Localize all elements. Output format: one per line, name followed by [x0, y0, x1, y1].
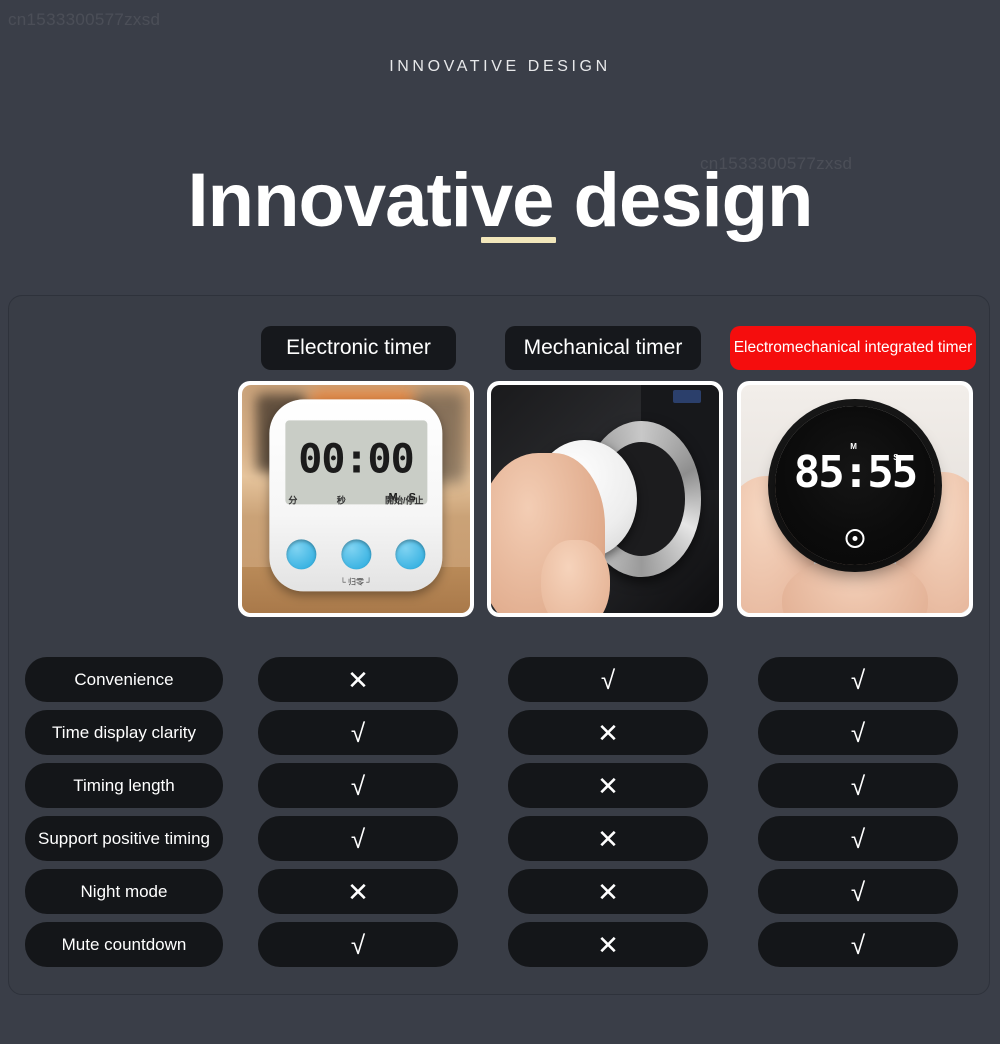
page-title: Innovative design: [0, 163, 1000, 239]
cell-mechanical: ✕: [508, 763, 708, 808]
lcd-digits: 00:00: [298, 440, 413, 480]
mark-icon: √: [351, 720, 365, 746]
feature-label: Support positive timing: [25, 816, 223, 861]
cell-mechanical: ✕: [508, 710, 708, 755]
reset-label: └ 归零 ┘: [269, 576, 442, 587]
product-tabs: Electronic timer Mechanical timer Electr…: [0, 326, 1000, 372]
minute-button: [287, 540, 317, 570]
product-photo-electronic-timer[interactable]: 00:00 M S 分 秒 開始/停止 └: [238, 381, 474, 617]
feature-label: Convenience: [25, 657, 223, 702]
start-stop-button: [395, 540, 425, 570]
led-timer-knob: M S 85:55: [775, 406, 935, 566]
thumb-graphic: [541, 540, 609, 613]
button-labels: 分 秒 開始/停止: [288, 494, 423, 507]
product-photo-electromechanical-timer[interactable]: M S 85:55: [737, 381, 973, 617]
feature-label: Night mode: [25, 869, 223, 914]
cell-electronic: √: [258, 816, 458, 861]
button-label-startstop: 開始/停止: [385, 494, 424, 507]
cell-mechanical: ✕: [508, 816, 708, 861]
mark-icon: ✕: [597, 826, 619, 852]
button-label-minute: 分: [288, 494, 297, 507]
tab-electromechanical-integrated-timer[interactable]: Electromechanical integrated timer: [730, 326, 976, 370]
mark-icon: ✕: [597, 773, 619, 799]
product-photos: 00:00 M S 分 秒 開始/停止 └: [0, 381, 1000, 617]
table-row: Night mode ✕ ✕ √: [0, 869, 1000, 922]
table-row: Mute countdown √ ✕ √: [0, 922, 1000, 975]
cell-electronic: √: [258, 763, 458, 808]
tab-electronic-timer[interactable]: Electronic timer: [261, 326, 456, 370]
timer-buttons: [287, 540, 426, 570]
page-eyebrow: INNOVATIVE DESIGN: [0, 58, 1000, 76]
cell-electromechanical: √: [758, 922, 958, 967]
button-label-second: 秒: [337, 494, 346, 507]
cell-mechanical: √: [508, 657, 708, 702]
cell-mechanical: ✕: [508, 922, 708, 967]
mark-icon: √: [351, 773, 365, 799]
table-row: Timing length √ ✕ √: [0, 763, 1000, 816]
electronic-timer-body: 00:00 M S 分 秒 開始/停止 └: [269, 399, 442, 591]
mark-icon: √: [851, 667, 865, 693]
lcd-screen: 00:00 M S: [285, 420, 427, 504]
mark-icon: √: [601, 667, 615, 693]
cell-electronic: ✕: [258, 869, 458, 914]
cell-electronic: √: [258, 922, 458, 967]
table-row: Support positive timing √ ✕ √: [0, 816, 1000, 869]
mark-icon: ✕: [597, 879, 619, 905]
watermark-top-left: cn1533300577zxsd: [8, 10, 160, 30]
table-row: Convenience ✕ √ √: [0, 657, 1000, 710]
mark-icon: √: [351, 826, 365, 852]
second-button: [341, 540, 371, 570]
mark-icon: ✕: [347, 667, 369, 693]
mark-icon: √: [851, 773, 865, 799]
led-digits: 85:55: [775, 451, 935, 495]
mark-icon: ✕: [597, 720, 619, 746]
power-button-icon: [845, 529, 864, 548]
cell-electronic: ✕: [258, 657, 458, 702]
promo-page: cn1533300577zxsd cn1533300577zxsd cn1533…: [0, 0, 1000, 1044]
comparison-grid: Convenience ✕ √ √ Time display clarity √…: [0, 657, 1000, 975]
cell-electromechanical: √: [758, 763, 958, 808]
cell-mechanical: ✕: [508, 869, 708, 914]
mark-icon: √: [851, 879, 865, 905]
product-photo-mechanical-timer[interactable]: [487, 381, 723, 617]
feature-label: Timing length: [25, 763, 223, 808]
mark-icon: √: [851, 932, 865, 958]
title-divider: [481, 237, 556, 243]
feature-label: Mute countdown: [25, 922, 223, 967]
cell-electromechanical: √: [758, 816, 958, 861]
cell-electronic: √: [258, 710, 458, 755]
mark-icon: ✕: [347, 879, 369, 905]
cell-electromechanical: √: [758, 869, 958, 914]
cell-electromechanical: √: [758, 710, 958, 755]
mark-icon: ✕: [597, 932, 619, 958]
feature-label: Time display clarity: [25, 710, 223, 755]
tab-mechanical-timer[interactable]: Mechanical timer: [505, 326, 701, 370]
cell-electromechanical: √: [758, 657, 958, 702]
mark-icon: √: [851, 720, 865, 746]
mark-icon: √: [351, 932, 365, 958]
table-row: Time display clarity √ ✕ √: [0, 710, 1000, 763]
mark-icon: √: [851, 826, 865, 852]
